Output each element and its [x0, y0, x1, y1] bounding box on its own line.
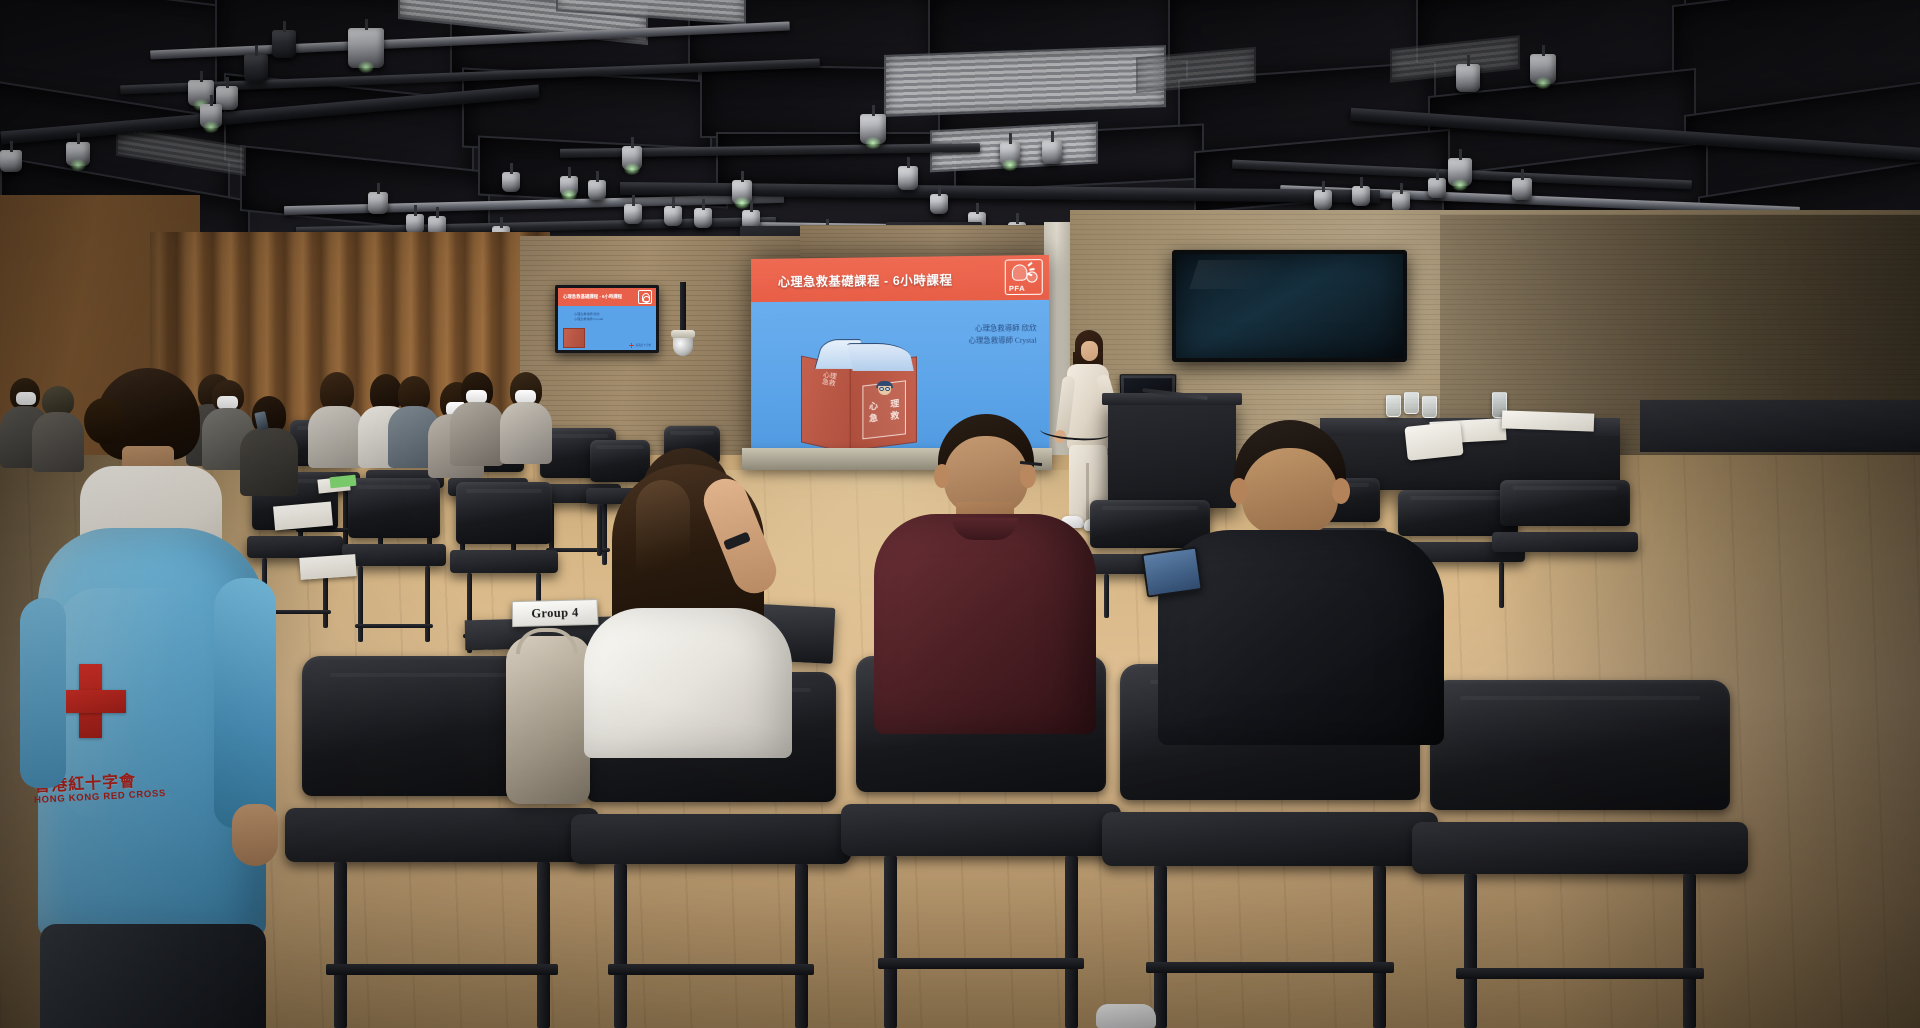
water-glass — [1386, 395, 1401, 417]
ceiling-spotlight — [898, 166, 918, 190]
side-monitor-red-cross-logo: 香港紅十字會 — [629, 343, 651, 348]
ceiling-spotlight — [588, 180, 606, 200]
ceiling-spotlight — [244, 54, 268, 82]
side-monitor-presenters: 心理急救導師 欣欣 心理急救導師 Crystal — [574, 312, 603, 323]
ceiling-spotlight — [0, 150, 22, 172]
person-head-icon — [1026, 271, 1037, 282]
ceiling-spotlight — [624, 204, 642, 224]
water-glass — [1422, 396, 1437, 418]
ceiling-spotlight — [200, 104, 222, 128]
photo-scene: 心理急救基礎課程 - 6小時課程 心理急救導師 欣欣 心理急救導師 Crysta… — [0, 0, 1920, 1028]
audience-member — [450, 372, 504, 466]
ceiling-spotlight — [694, 208, 712, 228]
ceiling-spotlight — [860, 114, 886, 144]
ceiling-coffer — [716, 132, 966, 188]
pfa-logo-icon — [638, 290, 652, 304]
chair — [1500, 480, 1630, 600]
wall-mounted-tv — [1172, 250, 1407, 362]
ceiling-spotlight — [1448, 158, 1472, 186]
audience-member-foreground-left — [566, 440, 806, 740]
water-glass — [1404, 392, 1419, 414]
book-pages — [847, 343, 914, 371]
slide-presenter-block: 心理急救導師 欣欣 心理急救導師 Crystal — [968, 322, 1036, 347]
lightbulb-icon — [1012, 264, 1027, 280]
chair — [1430, 680, 1730, 1028]
ceiling-spotlight — [1456, 64, 1480, 92]
back-table — [1640, 400, 1920, 452]
ceiling-spotlight — [1428, 178, 1446, 198]
security-camera-stem — [680, 282, 686, 334]
red-cross-icon — [629, 343, 634, 348]
notebook — [299, 554, 356, 580]
ceiling-spotlight — [66, 142, 90, 166]
pfa-logo-icon: PFA — [1005, 259, 1043, 295]
pfa-logo-text: PFA — [1009, 284, 1025, 293]
ceiling-spotlight — [272, 30, 296, 58]
audience-member-foreground-center — [860, 410, 1110, 730]
book-spine-text: 心理急救 — [821, 372, 837, 389]
ceiling-spotlight — [1000, 142, 1020, 166]
ceiling-spotlight — [1512, 178, 1532, 200]
ceiling-spotlight — [1392, 192, 1410, 212]
slide-presenter-line-2: 心理急救導師 Crystal — [968, 335, 1036, 347]
ceiling-spotlight — [1314, 190, 1332, 210]
side-presenter-line-2: 心理急救導師 Crystal — [574, 317, 603, 322]
ceiling-air-vent — [884, 45, 1166, 117]
ceiling-spotlight — [1042, 140, 1062, 164]
ceiling-spotlight — [406, 214, 424, 234]
chair — [348, 478, 440, 654]
side-monitor-book-illustration — [563, 328, 585, 348]
ceiling-spotlight — [368, 192, 388, 214]
ceiling-spotlight — [664, 206, 682, 226]
audience-member-foreground-right — [1150, 420, 1450, 740]
security-camera-collar — [671, 330, 695, 338]
side-display-monitor: 心理急救基礎課程 - 6小時課程 心理急救導師 欣欣 心理急救導師 Crysta… — [555, 285, 659, 353]
ceiling-spotlight — [1352, 186, 1370, 206]
ceiling-spotlight — [502, 172, 520, 192]
side-monitor-org-name: 香港紅十字會 — [635, 344, 651, 347]
slide-title: 心理急救基礎課程 - 6小時課程 — [778, 269, 953, 290]
audience-member — [308, 372, 364, 468]
side-monitor-body: 心理急救導師 欣欣 心理急救導師 Crystal 香港紅十字會 — [558, 306, 656, 350]
shoe — [1096, 1004, 1156, 1028]
ceiling-spotlight — [930, 194, 948, 214]
book-left-cover — [801, 356, 852, 454]
ceiling-spotlight — [1530, 54, 1556, 84]
tablet-device — [1141, 546, 1203, 597]
ceiling-spotlight — [348, 28, 384, 68]
red-cross-volunteer: 香港紅十字會 HONG KONG RED CROSS — [18, 368, 286, 1028]
audience-member — [500, 372, 552, 464]
slide-title-band: 心理急救基礎課程 - 6小時課程 PFA — [751, 255, 1049, 302]
ceiling-spotlight — [560, 176, 578, 196]
paper-stack — [1502, 410, 1595, 431]
ceiling-spotlight — [622, 146, 642, 170]
reader-figure-icon — [875, 381, 894, 396]
slide-presenter-line-1: 心理急救導師 欣欣 — [968, 322, 1036, 334]
